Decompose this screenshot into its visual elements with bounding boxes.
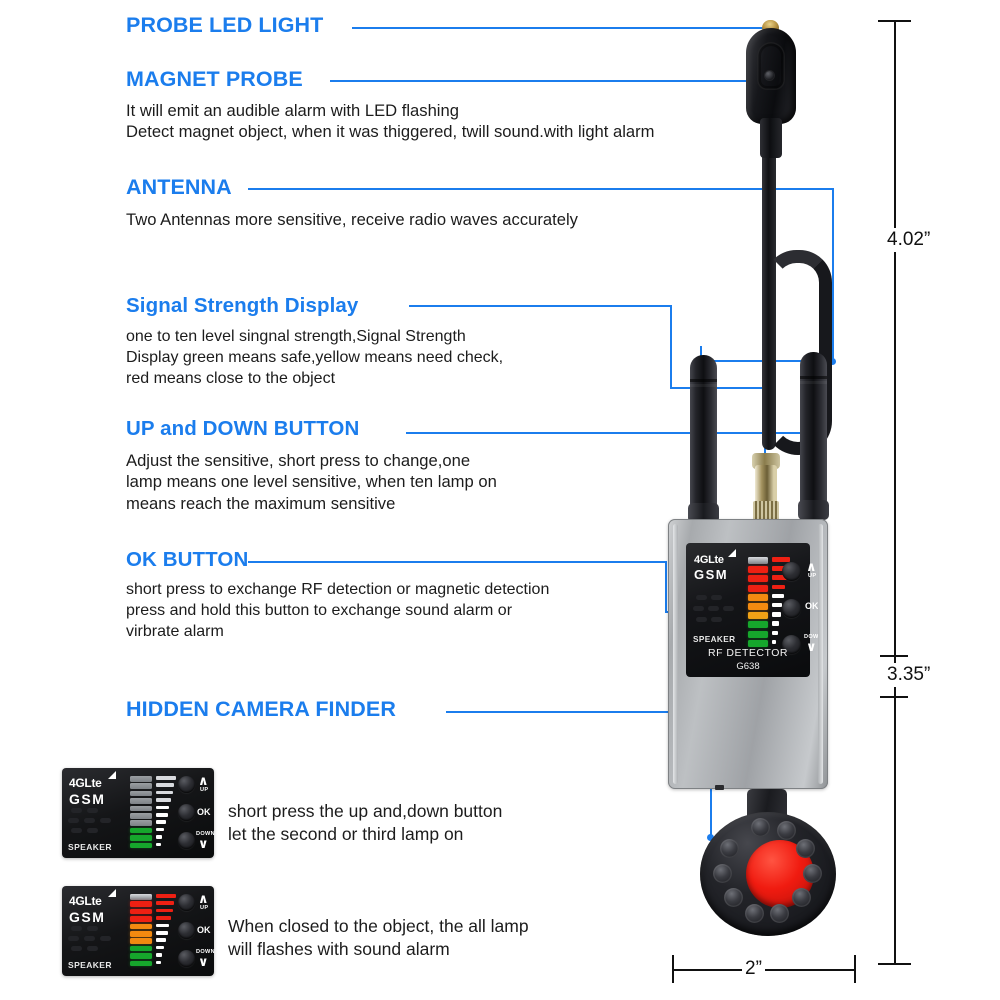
dimension-cap-mid-upper bbox=[880, 655, 908, 657]
led-tick bbox=[156, 828, 164, 832]
led-segment bbox=[130, 938, 152, 944]
hidden-camera-finder-disc bbox=[700, 812, 836, 936]
led-segment bbox=[130, 798, 152, 804]
panel-brand: 4GLte GSM bbox=[69, 776, 105, 807]
device-brand: 4GLte GSM bbox=[694, 554, 728, 582]
panel-led-bar bbox=[130, 894, 152, 968]
led-tick bbox=[772, 557, 790, 562]
led-segment bbox=[130, 813, 152, 819]
led-segment bbox=[748, 594, 768, 601]
led-tick bbox=[156, 798, 171, 802]
callout-body: Adjust the sensitive, short press to cha… bbox=[126, 450, 497, 516]
led-tick bbox=[772, 631, 778, 636]
led-segment bbox=[748, 621, 768, 628]
led-segment bbox=[130, 820, 152, 826]
callout-antenna: ANTENNA Two Antennas more sensitive, rec… bbox=[126, 176, 578, 230]
signal-strength-led-bar bbox=[748, 557, 768, 649]
reference-panel-low-signal: 4GLte GSM SPEAKER ∧ UP OK DOWN ∨ bbox=[62, 768, 214, 858]
connector-body bbox=[755, 465, 777, 505]
rf-detector-device: 4GLte GSM SPEAKER ∧ UP OK bbox=[668, 519, 828, 789]
device-model: RF DETECTOR G638 bbox=[686, 647, 810, 672]
speaker-grille bbox=[68, 808, 122, 838]
reference-panel-full-alarm: 4GLte GSM SPEAKER ∧ UP OK DOWN ∨ bbox=[62, 886, 214, 976]
leader-line-signal-mid bbox=[670, 387, 765, 389]
led-tick bbox=[772, 585, 785, 590]
led-tick bbox=[156, 843, 161, 847]
led-tick bbox=[156, 813, 168, 817]
led-segment bbox=[130, 953, 152, 959]
led-segment bbox=[130, 806, 152, 812]
speaker-grille bbox=[693, 595, 745, 629]
led-tick bbox=[772, 621, 779, 626]
caption-full-alarm: When closed to the object, the all lamp … bbox=[228, 915, 529, 961]
callout-body: one to ten level singnal strength,Signal… bbox=[126, 326, 503, 389]
infographic-canvas: PROBE LED LIGHT MAGNET PROBE It will emi… bbox=[0, 0, 1000, 1000]
panel-led-bar bbox=[130, 776, 152, 850]
dimension-label-body-height: 3.35” bbox=[884, 663, 933, 687]
up-button[interactable] bbox=[178, 776, 195, 793]
speaker-label: SPEAKER bbox=[693, 635, 735, 644]
led-tick bbox=[156, 776, 176, 780]
brand-4glte-label: 4GLte bbox=[694, 554, 728, 566]
led-segment bbox=[748, 612, 768, 619]
led-tick bbox=[156, 820, 166, 824]
led-segment bbox=[748, 603, 768, 610]
led-tick bbox=[772, 640, 776, 645]
callout-signal-strength-display: Signal Strength Display one to ten level… bbox=[126, 295, 503, 389]
dimension-line-vertical bbox=[894, 20, 896, 965]
dimension-label-width: 2” bbox=[742, 957, 765, 981]
camera-finder-led bbox=[803, 864, 822, 883]
panel-tick-column bbox=[156, 776, 176, 850]
ok-button[interactable] bbox=[782, 599, 801, 618]
callout-title: HIDDEN CAMERA FINDER bbox=[126, 698, 396, 721]
callout-title: OK BUTTON bbox=[126, 549, 549, 571]
dimension-cap-top bbox=[878, 20, 911, 22]
led-tick bbox=[772, 603, 782, 608]
probe-screw-icon bbox=[765, 71, 774, 80]
dimension-cap-bottom bbox=[878, 963, 911, 965]
down-arrow-icon: ∨ bbox=[198, 955, 209, 968]
led-tick bbox=[156, 961, 161, 965]
speaker-label: SPEAKER bbox=[68, 960, 112, 970]
ok-button-label: OK bbox=[805, 601, 819, 611]
led-tick bbox=[156, 791, 173, 795]
leader-line-ok-drop bbox=[665, 561, 667, 612]
camera-finder-led bbox=[713, 864, 732, 883]
leader-line-magnet-probe bbox=[330, 80, 767, 82]
callout-body: Two Antennas more sensitive, receive rad… bbox=[126, 209, 578, 231]
camera-finder-led bbox=[777, 821, 796, 840]
ok-button[interactable] bbox=[178, 922, 195, 939]
dimension-cap-mid-lower bbox=[880, 696, 908, 698]
led-segment bbox=[130, 843, 152, 849]
camera-finder-led bbox=[751, 818, 770, 837]
led-segment bbox=[748, 585, 768, 592]
camera-finder-led bbox=[796, 839, 815, 858]
up-arrow-icon: ∧ bbox=[198, 892, 209, 905]
callout-body: short press to exchange RF detection or … bbox=[126, 579, 549, 642]
panel-brand: 4GLte GSM bbox=[69, 894, 105, 925]
led-tick bbox=[156, 946, 164, 950]
led-tick bbox=[156, 916, 171, 920]
antenna-right bbox=[800, 352, 827, 520]
ok-button-label: OK bbox=[197, 925, 211, 935]
model-name-label: RF DETECTOR bbox=[686, 647, 810, 659]
led-tick bbox=[156, 924, 169, 928]
led-segment bbox=[130, 894, 152, 900]
led-segment bbox=[748, 557, 768, 564]
led-segment bbox=[130, 931, 152, 937]
camera-finder-led bbox=[792, 888, 811, 907]
up-button-label: UP bbox=[200, 905, 208, 911]
leader-line-antenna bbox=[248, 188, 833, 190]
led-tick bbox=[156, 894, 176, 898]
leader-line-signal-drop bbox=[670, 305, 672, 387]
ok-button-label: OK bbox=[197, 807, 211, 817]
ok-button[interactable] bbox=[178, 804, 195, 821]
device-faceplate: 4GLte GSM SPEAKER ∧ UP OK bbox=[686, 543, 810, 677]
down-arrow-icon: ∨ bbox=[198, 837, 209, 850]
led-segment bbox=[130, 791, 152, 797]
signal-icon bbox=[107, 889, 117, 898]
led-segment bbox=[130, 916, 152, 922]
callout-hidden-camera-finder: HIDDEN CAMERA FINDER bbox=[126, 698, 396, 721]
camera-finder-led bbox=[770, 904, 789, 923]
led-tick bbox=[156, 953, 162, 957]
antenna-left bbox=[690, 355, 717, 523]
led-tick bbox=[156, 931, 168, 935]
brand-gsm-label: GSM bbox=[694, 567, 728, 582]
led-tick bbox=[772, 612, 781, 617]
probe-neck bbox=[760, 118, 782, 158]
led-segment bbox=[748, 640, 768, 647]
brand-gsm-label: GSM bbox=[69, 791, 105, 807]
camera-finder-led bbox=[720, 839, 739, 858]
callout-title: UP and DOWN BUTTON bbox=[126, 418, 497, 440]
up-button-label: UP bbox=[808, 573, 816, 579]
led-segment bbox=[130, 946, 152, 952]
callout-title: PROBE LED LIGHT bbox=[126, 14, 323, 37]
leader-line-updown bbox=[406, 432, 811, 434]
panel-tick-column bbox=[156, 894, 176, 968]
led-tick bbox=[772, 594, 784, 599]
caption-text: When closed to the object, the all lamp … bbox=[228, 915, 529, 961]
up-button-label: UP bbox=[200, 787, 208, 793]
down-button[interactable] bbox=[178, 950, 195, 967]
brand-4glte-label: 4GLte bbox=[69, 894, 105, 908]
led-segment bbox=[130, 828, 152, 834]
led-tick bbox=[156, 909, 173, 913]
led-tick bbox=[156, 938, 166, 942]
led-tick bbox=[156, 835, 162, 839]
down-button[interactable] bbox=[178, 832, 195, 849]
up-arrow-icon: ∧ bbox=[806, 560, 817, 573]
led-segment bbox=[130, 901, 152, 907]
signal-icon bbox=[107, 771, 117, 780]
led-tick bbox=[156, 901, 174, 905]
led-tick bbox=[156, 806, 169, 810]
brand-gsm-label: GSM bbox=[69, 909, 105, 925]
led-segment bbox=[130, 924, 152, 930]
leader-line-probe-led bbox=[352, 27, 770, 29]
dimension-cap-left bbox=[672, 955, 674, 983]
up-button[interactable] bbox=[782, 562, 801, 581]
led-segment bbox=[130, 961, 152, 967]
leader-line-antenna-right-drop bbox=[832, 188, 834, 360]
callout-body: It will emit an audible alarm with LED f… bbox=[126, 100, 655, 144]
device-port-notch bbox=[715, 785, 724, 790]
led-tick bbox=[156, 783, 174, 787]
led-segment bbox=[130, 909, 152, 915]
brand-4glte-label: 4GLte bbox=[69, 776, 105, 790]
probe-connector bbox=[751, 445, 781, 523]
led-segment bbox=[130, 776, 152, 782]
caption-low-signal: short press the up and,down button let t… bbox=[228, 800, 502, 846]
model-number-label: G638 bbox=[686, 661, 810, 672]
dimension-label-total-height: 4.02” bbox=[884, 228, 933, 252]
up-button[interactable] bbox=[178, 894, 195, 911]
signal-icon bbox=[727, 549, 737, 558]
led-segment bbox=[130, 835, 152, 841]
speaker-grille bbox=[68, 926, 122, 956]
up-arrow-icon: ∧ bbox=[198, 774, 209, 787]
dimension-cap-right bbox=[854, 955, 856, 983]
callout-ok-button: OK BUTTON short press to exchange RF det… bbox=[126, 549, 549, 642]
camera-finder-led bbox=[724, 888, 743, 907]
led-segment bbox=[748, 575, 768, 582]
leader-line-signal-top bbox=[409, 305, 671, 307]
led-segment bbox=[748, 631, 768, 638]
led-segment bbox=[748, 566, 768, 573]
led-segment bbox=[130, 783, 152, 789]
leader-line-ok-top bbox=[248, 561, 666, 563]
caption-text: short press the up and,down button let t… bbox=[228, 800, 502, 846]
callout-probe-led-light: PROBE LED LIGHT bbox=[126, 14, 323, 37]
speaker-label: SPEAKER bbox=[68, 842, 112, 852]
camera-finder-led bbox=[745, 904, 764, 923]
